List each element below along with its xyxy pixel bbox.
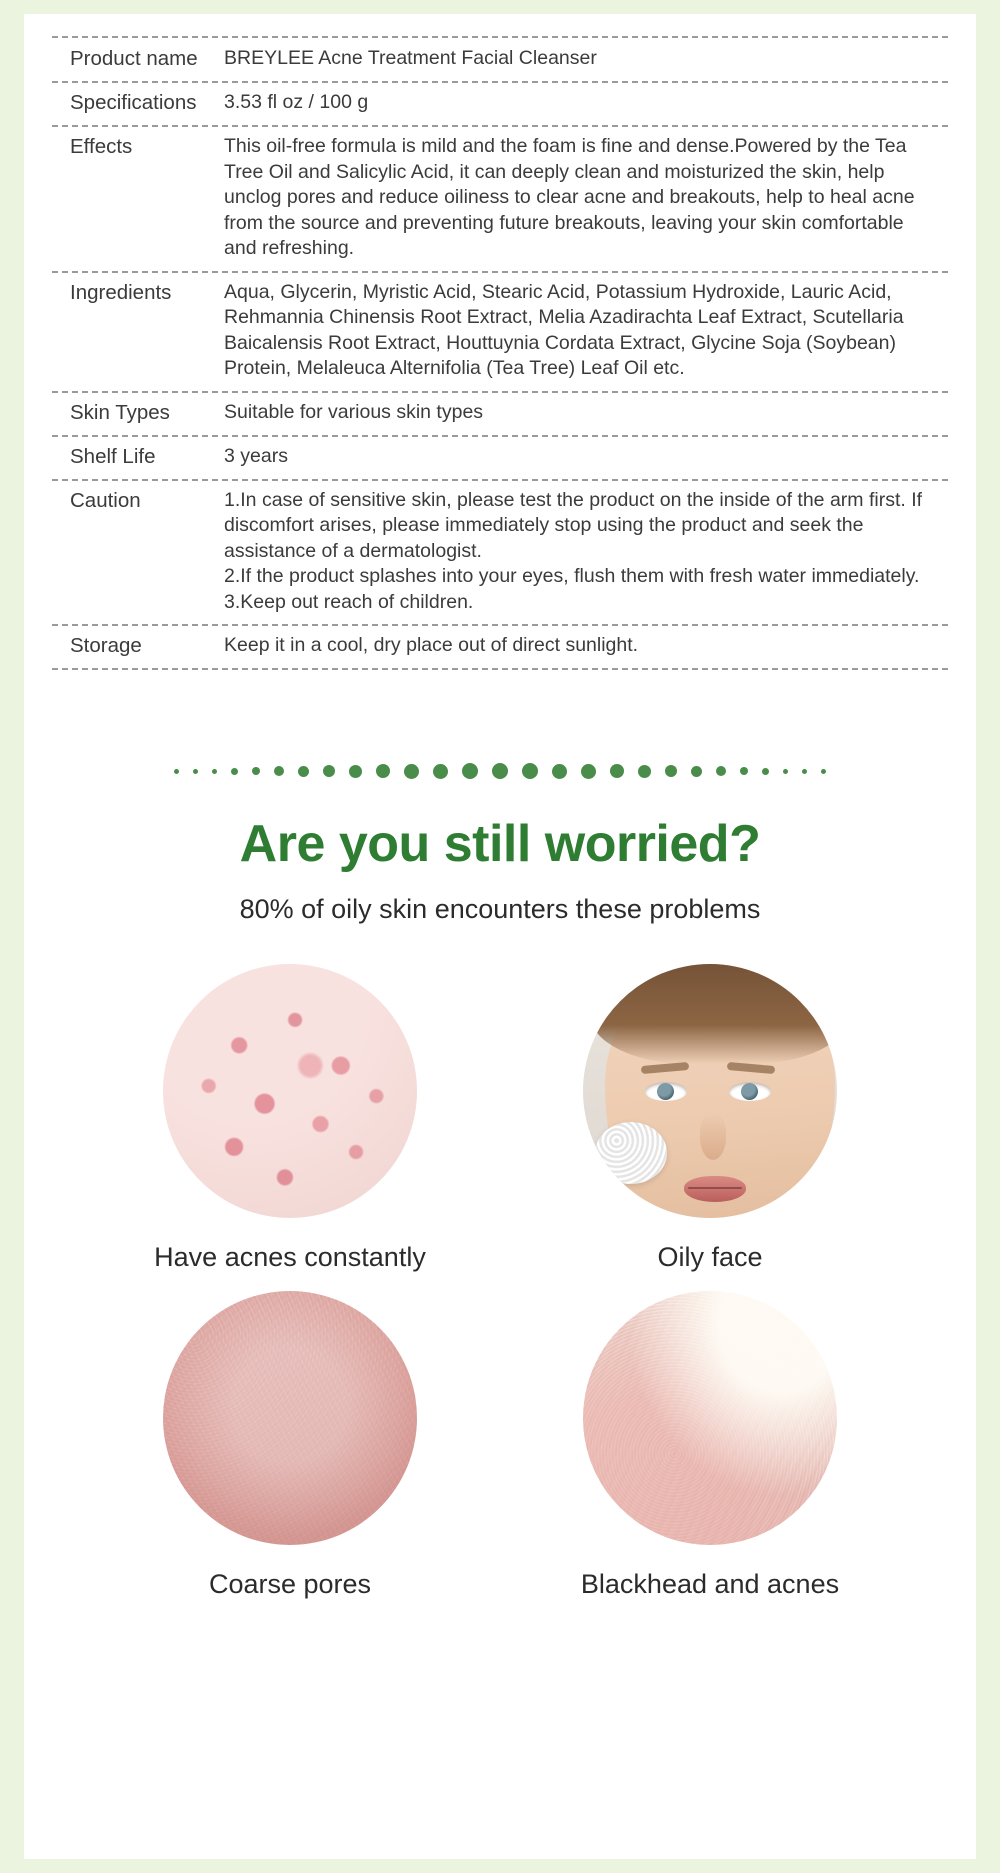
divider-dot <box>802 769 807 774</box>
divider-dot <box>274 766 284 776</box>
divider-dot <box>323 765 335 777</box>
problem-grid: Have acnes constantly Oily face <box>24 964 976 1618</box>
divider-dot <box>212 769 217 774</box>
lips-shape <box>684 1176 746 1202</box>
divider-dot <box>716 766 726 776</box>
divider-dot <box>252 767 260 775</box>
oily-face-image <box>583 964 837 1218</box>
problem-row: Coarse pores Blackhead and acnes <box>24 1291 976 1600</box>
table-row: Storage Keep it in a cool, dry place out… <box>52 626 948 670</box>
blotting-pad <box>595 1122 667 1184</box>
problem-item-acne: Have acnes constantly <box>80 964 500 1273</box>
spec-label: Effects <box>52 134 224 160</box>
spec-label: Shelf Life <box>52 444 224 470</box>
iris-left <box>657 1083 674 1100</box>
divider-dot <box>610 764 624 778</box>
spec-value: BREYLEE Acne Treatment Facial Cleanser <box>224 46 948 72</box>
hair-shape <box>590 964 837 1064</box>
divider-dot <box>174 769 179 774</box>
table-row: Ingredients Aqua, Glycerin, Myristic Aci… <box>52 273 948 393</box>
spec-label: Skin Types <box>52 400 224 426</box>
problem-caption: Coarse pores <box>209 1569 371 1600</box>
problem-item-coarse-pores: Coarse pores <box>80 1291 500 1600</box>
table-row: Skin Types Suitable for various skin typ… <box>52 393 948 437</box>
spec-value: 1.In case of sensitive skin, please test… <box>224 488 948 616</box>
problem-row: Have acnes constantly Oily face <box>24 964 976 1273</box>
divider-dot <box>665 765 677 777</box>
spec-label: Ingredients <box>52 280 224 306</box>
eye-right <box>729 1082 771 1101</box>
divider-dot <box>433 764 448 779</box>
spec-value: This oil-free formula is mild and the fo… <box>224 134 948 262</box>
table-row: Caution 1.In case of sensitive skin, ple… <box>52 481 948 627</box>
divider-dot <box>349 765 362 778</box>
problem-caption: Oily face <box>657 1242 762 1273</box>
spec-label: Product name <box>52 46 224 72</box>
blackhead-skin-image <box>583 1291 837 1545</box>
problem-item-oily-face: Oily face <box>500 964 920 1273</box>
page-subtitle: 80% of oily skin encounters these proble… <box>24 894 976 925</box>
divider-dot <box>581 764 596 779</box>
divider-dot <box>193 769 198 774</box>
page-title: Are you still worried? <box>24 814 976 874</box>
spec-label: Storage <box>52 633 224 659</box>
divider-dot <box>492 763 508 779</box>
table-row: Specifications 3.53 fl oz / 100 g <box>52 83 948 127</box>
spec-label: Specifications <box>52 90 224 116</box>
spec-value: Keep it in a cool, dry place out of dire… <box>224 633 948 659</box>
table-row: Product name BREYLEE Acne Treatment Faci… <box>52 36 948 83</box>
divider-dot <box>821 769 826 774</box>
table-row: Shelf Life 3 years <box>52 437 948 481</box>
spec-value: Aqua, Glycerin, Myristic Acid, Stearic A… <box>224 280 948 382</box>
acne-skin-image <box>163 964 417 1218</box>
divider-dot <box>762 768 769 775</box>
divider-dot <box>462 763 478 779</box>
product-spec-table: Product name BREYLEE Acne Treatment Faci… <box>52 36 948 670</box>
divider-dot <box>691 766 702 777</box>
eye-left <box>645 1082 687 1101</box>
divider-dot <box>638 765 651 778</box>
coarse-pores-image <box>163 1291 417 1545</box>
divider-dot <box>740 767 748 775</box>
spec-value: Suitable for various skin types <box>224 400 948 426</box>
spec-value: 3.53 fl oz / 100 g <box>224 90 948 116</box>
divider-dot <box>552 764 567 779</box>
divider-dot <box>783 769 788 774</box>
problem-caption: Have acnes constantly <box>154 1242 426 1273</box>
dotted-divider <box>24 756 976 786</box>
nose-shape <box>700 1114 726 1160</box>
divider-dot <box>376 764 390 778</box>
iris-right <box>741 1083 758 1100</box>
spec-value: 3 years <box>224 444 948 470</box>
problem-caption: Blackhead and acnes <box>581 1569 839 1600</box>
divider-dot <box>231 768 238 775</box>
spec-label: Caution <box>52 488 224 514</box>
divider-dot <box>404 764 419 779</box>
problem-item-blackhead: Blackhead and acnes <box>500 1291 920 1600</box>
divider-dot <box>522 763 538 779</box>
divider-dot <box>298 766 309 777</box>
table-row: Effects This oil-free formula is mild an… <box>52 127 948 273</box>
product-detail-page: Product name BREYLEE Acne Treatment Faci… <box>24 14 976 1859</box>
